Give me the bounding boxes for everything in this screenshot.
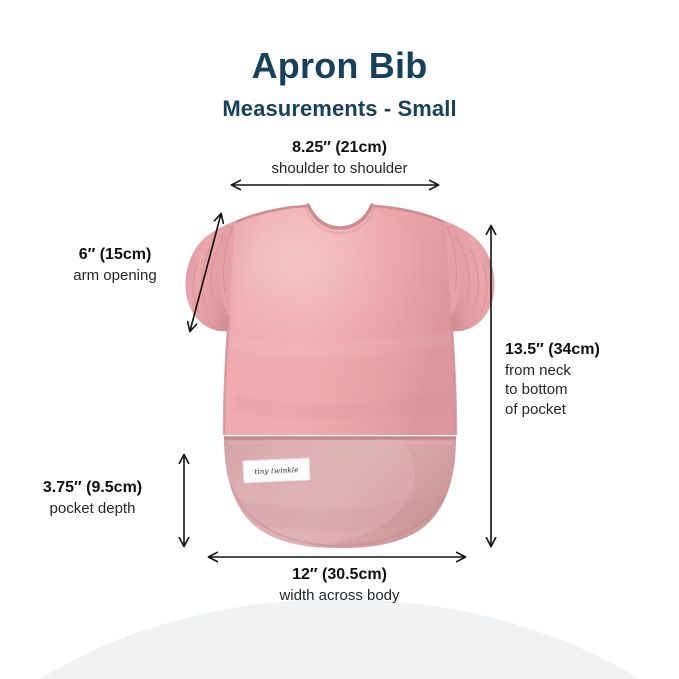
label-neck-description-line3: of pocket — [505, 400, 675, 420]
label-neck-description-line2: to bottom — [505, 380, 675, 400]
brand-label-tag: tiny twinkle — [243, 458, 311, 484]
label-width-across-body: 12″ (30.5cm) width across body — [0, 565, 679, 605]
bottom-decorative-band — [0, 599, 679, 679]
brand-label-text: tiny twinkle — [254, 466, 299, 476]
label-neck-value: 13.5″ (34cm) — [505, 340, 675, 361]
label-pocket-value: 3.75″ (9.5cm) — [10, 478, 175, 499]
label-neck-description-line1: from neck — [505, 361, 675, 381]
label-shoulder-value: 8.25″ (21cm) — [0, 138, 679, 159]
measurement-diagram-page: Apron Bib Measurements - Small — [0, 0, 679, 679]
label-pocket-description: pocket depth — [10, 499, 175, 519]
label-shoulder-description: shoulder to shoulder — [0, 159, 679, 179]
label-neck-to-pocket: 13.5″ (34cm) from neck to bottom of pock… — [505, 340, 675, 419]
apron-bib-illustration — [175, 195, 505, 550]
label-width-description: width across body — [0, 586, 679, 606]
label-arm-opening: 6″ (15cm) arm opening — [20, 245, 210, 285]
label-arm-value: 6″ (15cm) — [20, 245, 210, 266]
label-pocket-depth: 3.75″ (9.5cm) pocket depth — [10, 478, 175, 518]
label-width-value: 12″ (30.5cm) — [0, 565, 679, 586]
label-arm-description: arm opening — [20, 266, 210, 286]
page-subtitle: Measurements - Small — [0, 96, 679, 122]
page-title: Apron Bib — [0, 47, 679, 85]
label-shoulder-to-shoulder: 8.25″ (21cm) shoulder to shoulder — [0, 138, 679, 178]
